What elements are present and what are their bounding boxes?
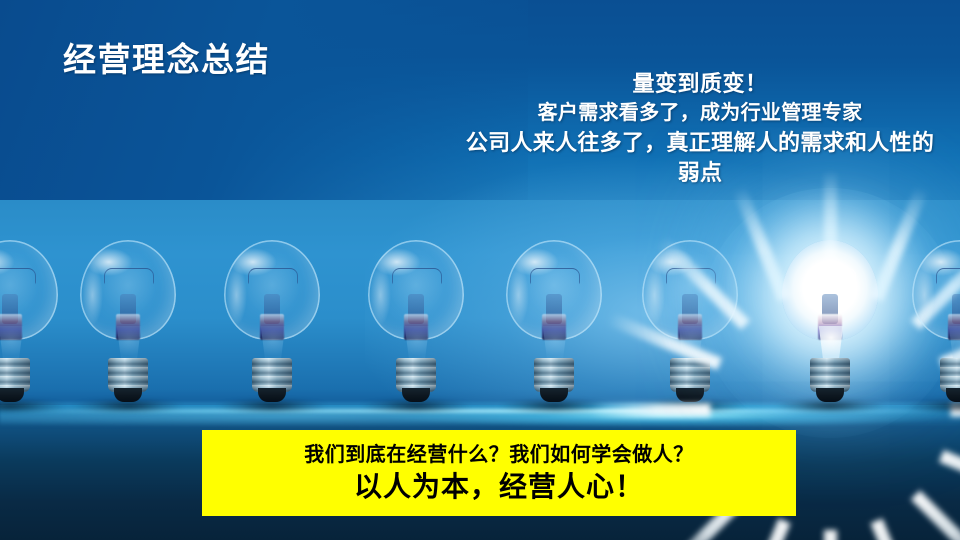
bulb-reflection bbox=[360, 398, 472, 414]
bulb-screw-base bbox=[0, 358, 30, 392]
bulb-reflection bbox=[498, 398, 610, 414]
bulb-screw-base bbox=[810, 358, 850, 392]
bulb-screw-base bbox=[534, 358, 574, 392]
headline-line-1: 量变到质变！ bbox=[460, 70, 940, 98]
bulb-reflection bbox=[634, 398, 746, 414]
headline-block: 量变到质变！ 客户需求看多了，成为行业管理专家 公司人来人往多了，真正理解人的需… bbox=[460, 70, 940, 188]
lightbulb bbox=[506, 240, 602, 408]
callout-answer: 以人为本，经营人心！ bbox=[354, 470, 644, 504]
slide-canvas: 经营理念总结 量变到质变！ 客户需求看多了，成为行业管理专家 公司人来人往多了，… bbox=[0, 0, 960, 540]
lightbulb bbox=[912, 240, 960, 408]
bulb-screw-base bbox=[252, 358, 292, 392]
lightbulb bbox=[368, 240, 464, 408]
page-title: 经营理念总结 bbox=[63, 33, 270, 81]
lightbulb bbox=[224, 240, 320, 408]
bulb-screw-base bbox=[670, 358, 710, 392]
bulb-screw-base bbox=[940, 358, 960, 392]
lightbulb-lit bbox=[782, 240, 878, 408]
callout-box: 我们到底在经营什么？我们如何学会做人？ 以人为本，经营人心！ bbox=[202, 430, 796, 516]
lightbulb bbox=[0, 240, 58, 408]
lightbulb bbox=[642, 240, 738, 408]
headline-line-2: 客户需求看多了，成为行业管理专家 bbox=[460, 98, 940, 128]
callout-question: 我们到底在经营什么？我们如何学会做人？ bbox=[304, 442, 694, 468]
bulb-screw-base bbox=[108, 358, 148, 392]
bulb-reflection bbox=[216, 398, 328, 414]
bulb-reflection bbox=[72, 398, 184, 414]
lightbulb bbox=[80, 240, 176, 408]
bulb-reflection bbox=[774, 398, 886, 414]
bulb-screw-base bbox=[396, 358, 436, 392]
headline-line-3: 公司人来人往多了，真正理解人的需求和人性的弱点 bbox=[460, 128, 940, 188]
